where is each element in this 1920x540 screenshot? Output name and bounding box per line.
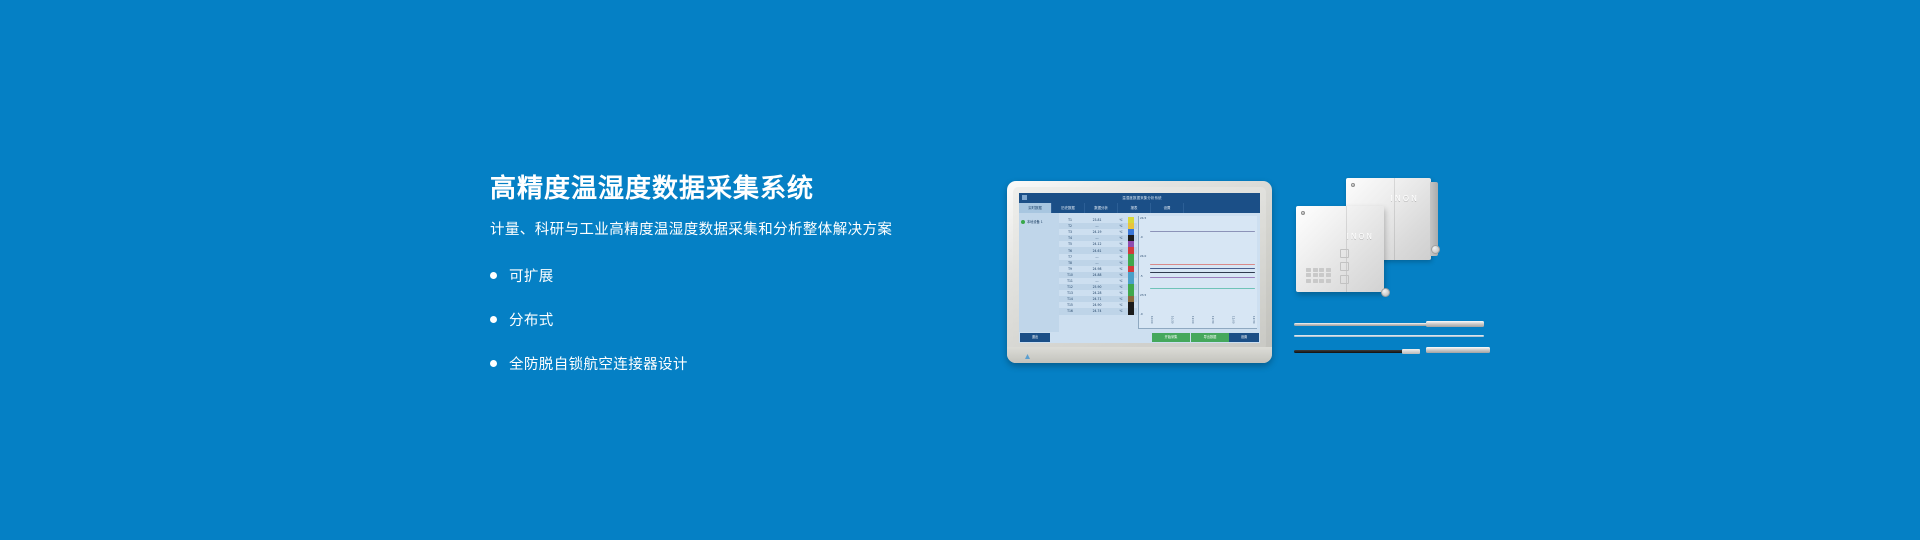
cell-channel: T3 [1060, 230, 1080, 234]
trend-chart: 24.5.024.0.523.5.0 10:0010:3011:0011:301… [1138, 216, 1257, 329]
cell-value: 25.90 [1080, 285, 1114, 289]
bullet-dot-icon [490, 360, 497, 367]
cell-channel: T1 [1060, 218, 1080, 222]
cell-value: --- [1080, 255, 1114, 259]
cell-channel: T8 [1060, 261, 1080, 265]
cell-value: 24.19 [1080, 230, 1114, 234]
feature-list: 可扩展 分布式 全防脱自锁航空连接器设计 [490, 262, 970, 378]
industrial-panel-monitor: 温湿度数据采集分析系统 实时数据 历史数据 数据分析 报表 设置 本地设备 1 [1007, 181, 1272, 363]
x-tick-label: 11:30 [1211, 316, 1214, 328]
screw-icon [1351, 183, 1355, 187]
cell-unit: ℃ [1114, 267, 1128, 271]
cell-channel: T13 [1060, 291, 1080, 295]
channel-readings-table: T123.81℃T2---℃T324.19℃T4---℃T524.12℃T624… [1059, 213, 1137, 332]
cell-value: 24.71 [1080, 297, 1114, 301]
cell-channel: T4 [1060, 236, 1080, 240]
exit-button[interactable]: 退出 [1020, 333, 1050, 342]
cell-value: 24.28 [1080, 291, 1114, 295]
vendor-logo-icon [1025, 354, 1030, 359]
cell-unit: ℃ [1114, 303, 1128, 307]
cell-channel: T16 [1060, 309, 1080, 313]
cell-channel: T10 [1060, 273, 1080, 277]
x-tick-label: 12:30 [1252, 316, 1255, 328]
mounting-foot-icon [1381, 288, 1390, 297]
cell-unit: ℃ [1114, 285, 1128, 289]
chart-plot-area [1150, 218, 1255, 315]
cell-unit: ℃ [1114, 249, 1128, 253]
cell-unit: ℃ [1114, 236, 1128, 240]
app-titlebar: 温湿度数据采集分析系统 [1019, 193, 1260, 202]
feature-label: 分布式 [509, 309, 554, 330]
y-tick-label: .0 [1140, 312, 1149, 316]
feature-label: 可扩展 [509, 265, 554, 286]
settings-button[interactable]: 设置 [1229, 333, 1259, 342]
acquisition-enclosure-front: INON [1296, 206, 1384, 292]
temperature-probe-thin [1294, 335, 1484, 338]
temperature-probe-silver [1294, 321, 1484, 327]
cell-value: --- [1080, 261, 1114, 265]
cell-unit: ℃ [1114, 218, 1128, 222]
tab-realtime-data[interactable]: 实时数据 [1019, 203, 1052, 213]
cell-value: 24.90 [1080, 303, 1114, 307]
monitor-bezel: 温湿度数据采集分析系统 实时数据 历史数据 数据分析 报表 设置 本地设备 1 [1007, 181, 1272, 363]
chart-series-line [1150, 231, 1255, 232]
cell-channel: T12 [1060, 285, 1080, 289]
brand-logo: INON [1390, 194, 1419, 203]
enclosure-seam [1394, 178, 1395, 260]
brand-logo: INON [1347, 232, 1374, 241]
cell-value: 24.74 [1080, 309, 1114, 313]
bullet-dot-icon [490, 272, 497, 279]
tab-reports[interactable]: 报表 [1118, 203, 1151, 213]
tab-settings[interactable]: 设置 [1151, 203, 1184, 213]
monitor-chin [1007, 347, 1272, 363]
cell-channel: T9 [1060, 267, 1080, 271]
x-tick-label: 10:30 [1170, 316, 1173, 328]
cell-value: 24.88 [1080, 273, 1114, 277]
cell-unit: ℃ [1114, 273, 1128, 277]
cell-value: --- [1080, 224, 1114, 228]
cell-channel: T2 [1060, 224, 1080, 228]
tab-data-analysis[interactable]: 数据分析 [1085, 203, 1118, 213]
port-group-icon [1340, 249, 1349, 284]
cell-channel: T6 [1060, 249, 1080, 253]
list-item: 可扩展 [490, 262, 970, 290]
chart-series-line [1150, 277, 1255, 278]
chart-series-line [1150, 268, 1255, 269]
cell-unit: ℃ [1114, 242, 1128, 246]
x-tick-label: 12:00 [1232, 316, 1235, 328]
monitor-screen: 温湿度数据采集分析系统 实时数据 历史数据 数据分析 报表 设置 本地设备 1 [1019, 193, 1260, 343]
cell-value: 23.81 [1080, 218, 1114, 222]
sidebar-item-label: 本地设备 1 [1027, 219, 1043, 224]
temperature-probe-black-cable [1294, 347, 1490, 355]
app-status-bar: 退出 开始采集 导出数据 设置 [1019, 332, 1260, 343]
cell-channel: T5 [1060, 242, 1080, 246]
connector-block-icon [1306, 268, 1331, 283]
aviation-connector [1426, 347, 1490, 353]
export-data-button[interactable]: 导出数据 [1191, 333, 1229, 342]
series-color-swatch [1128, 308, 1134, 314]
start-acquisition-button[interactable]: 开始采集 [1152, 333, 1190, 342]
mounting-foot-icon [1431, 245, 1440, 254]
table-row[interactable]: T1624.74℃ [1059, 308, 1137, 314]
device-tree-sidebar: 本地设备 1 [1019, 213, 1059, 332]
cable-strain-relief [1402, 349, 1420, 354]
x-tick-label: 11:00 [1191, 316, 1194, 328]
cell-unit: ℃ [1114, 297, 1128, 301]
y-tick-label: .0 [1140, 235, 1149, 239]
cell-value: --- [1080, 279, 1114, 283]
tab-history-data[interactable]: 历史数据 [1052, 203, 1085, 213]
y-tick-label: 23.5 [1140, 293, 1149, 297]
app-tab-strip: 实时数据 历史数据 数据分析 报表 设置 [1019, 202, 1260, 213]
cell-unit: ℃ [1114, 230, 1128, 234]
bullet-dot-icon [490, 316, 497, 323]
list-item: 全防脱自锁航空连接器设计 [490, 350, 970, 378]
cell-value: 24.12 [1080, 242, 1114, 246]
app-title: 温湿度数据采集分析系统 [1027, 195, 1257, 200]
cell-unit: ℃ [1114, 291, 1128, 295]
cell-unit: ℃ [1114, 224, 1128, 228]
list-item: 分布式 [490, 306, 970, 334]
y-tick-label: .5 [1140, 274, 1149, 278]
chart-x-axis: 10:0010:3011:0011:3012:0012:30 [1150, 316, 1255, 328]
cell-unit: ℃ [1114, 279, 1128, 283]
cell-value: 24.61 [1080, 249, 1114, 253]
cell-channel: T15 [1060, 303, 1080, 307]
cell-channel: T7 [1060, 255, 1080, 259]
cell-unit: ℃ [1114, 261, 1128, 265]
screw-icon [1301, 211, 1305, 215]
product-banner: 高精度温湿度数据采集系统 计量、科研与工业高精度温湿度数据采集和分析整体解决方案… [0, 0, 1920, 540]
cell-channel: T14 [1060, 297, 1080, 301]
chart-series-line [1150, 264, 1255, 265]
banner-copy: 高精度温湿度数据采集系统 计量、科研与工业高精度温湿度数据采集和分析整体解决方案… [490, 175, 970, 394]
cell-unit: ℃ [1114, 309, 1128, 313]
cell-unit: ℃ [1114, 255, 1128, 259]
cell-value: --- [1080, 236, 1114, 240]
x-tick-label: 10:00 [1150, 316, 1153, 328]
chart-series-line [1150, 288, 1255, 289]
app-body: 本地设备 1 T123.81℃T2---℃T324.19℃T4---℃T524.… [1019, 213, 1260, 332]
page-title: 高精度温湿度数据采集系统 [490, 175, 970, 205]
banner-subtitle: 计量、科研与工业高精度温湿度数据采集和分析整体解决方案 [490, 221, 970, 240]
cell-value: 24.98 [1080, 267, 1114, 271]
chart-series-line [1150, 272, 1255, 273]
y-tick-label: 24.5 [1140, 216, 1149, 220]
y-tick-label: 24.0 [1140, 254, 1149, 258]
sidebar-item-device[interactable]: 本地设备 1 [1019, 218, 1059, 225]
status-online-icon [1021, 220, 1025, 224]
cell-channel: T11 [1060, 279, 1080, 283]
feature-label: 全防脱自锁航空连接器设计 [509, 353, 688, 374]
chart-y-axis: 24.5.024.0.523.5.0 [1140, 216, 1149, 316]
